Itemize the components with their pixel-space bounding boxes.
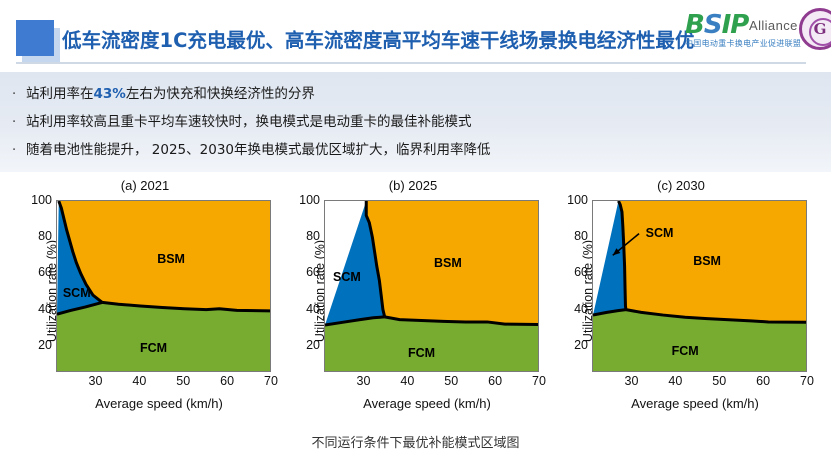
bullet-item-1: · 站利用率在43%左右为快充和快换经济性的分界 [12,82,831,110]
seal-letter: G [802,11,831,47]
y-tick-label: 100 [567,193,588,207]
x-axis-ticks: 3040506070 [592,374,807,392]
seal-logo-icon: G [799,8,831,50]
logo-alliance-text: Alliance [749,18,798,33]
y-tick-label: 80 [306,229,320,243]
y-tick-label: 20 [38,338,52,352]
charts-container: (a) 2021Utilization rate (%)Average spee… [0,178,831,428]
chart-title: (a) 2021 [10,178,280,193]
x-tick-label: 40 [132,374,146,388]
bullet-item-3: · 随着电池性能提升， 2025、2030年换电模式最优区域扩大，临界利用率降低 [12,138,831,166]
bsip-alliance-logo: BSIP Alliance 中国电动重卡换电产业促进联盟 G [683,2,831,58]
logo-chinese-text: 中国电动重卡换电产业促进联盟 [685,38,801,49]
y-tick-label: 100 [31,193,52,207]
plot-area: BSMFCMSCM [592,200,807,372]
x-tick-label: 30 [357,374,371,388]
chart-panel-2: (b) 2025Utilization rate (%)Average spee… [278,178,548,418]
y-tick-label: 80 [38,229,52,243]
x-tick-label: 40 [668,374,682,388]
bullet-item-2: · 站利用率较高且重卡平均车速较快时，换电模式是电动重卡的最佳补能模式 [12,110,831,138]
x-tick-label: 70 [264,374,278,388]
bullet-3-text: 随着电池性能提升， 2025、2030年换电模式最优区域扩大，临界利用率降低 [26,138,491,158]
title-accent-square [16,20,54,56]
slide-header: 低车流密度1C充电最优、高车流密度高平均车速干线场景换电经济性最优 BSIP A… [0,0,831,68]
y-tick-label: 80 [574,229,588,243]
y-tick-label: 20 [574,338,588,352]
chart-title: (b) 2025 [278,178,548,193]
bullet-panel: · 站利用率在43%左右为快充和快换经济性的分界 · 站利用率较高且重卡平均车速… [0,72,831,172]
region-fcm [57,302,271,372]
bullet-marker-icon: · [12,115,26,130]
bullet-2-text: 站利用率较高且重卡平均车速较快时，换电模式是电动重卡的最佳补能模式 [26,110,472,130]
figure-caption: 不同运行条件下最优补能模式区域图 [0,432,831,451]
y-tick-label: 60 [306,265,320,279]
y-tick-label: 40 [574,302,588,316]
chart-panel-1: (a) 2021Utilization rate (%)Average spee… [10,178,280,418]
x-axis-ticks: 3040506070 [324,374,539,392]
y-tick-label: 40 [306,302,320,316]
bullet-1-highlight: 43% [94,86,126,102]
x-tick-label: 60 [756,374,770,388]
x-tick-label: 60 [220,374,234,388]
y-tick-label: 100 [299,193,320,207]
title-underline [16,62,806,64]
x-tick-label: 50 [712,374,726,388]
plot-area: SCMBSMFCM [56,200,271,372]
x-tick-label: 40 [400,374,414,388]
chart-panel-3: (c) 2030Utilization rate (%)Average spee… [546,178,816,418]
x-axis-label: Average speed (km/h) [312,396,542,411]
bullet-marker-icon: · [12,87,26,102]
x-tick-label: 30 [625,374,639,388]
x-axis-ticks: 3040506070 [56,374,271,392]
x-axis-label: Average speed (km/h) [44,396,274,411]
x-tick-label: 30 [89,374,103,388]
logo-brand-text: BSIP [685,10,748,40]
x-tick-label: 50 [176,374,190,388]
x-tick-label: 70 [532,374,546,388]
chart-title: (c) 2030 [546,178,816,193]
bullet-marker-icon: · [12,143,26,158]
page-title: 低车流密度1C充电最优、高车流密度高平均车速干线场景换电经济性最优 [62,24,694,53]
y-tick-label: 20 [306,338,320,352]
y-tick-label: 60 [574,265,588,279]
scm-annotation-arrow [593,201,807,372]
bullet-1-prefix: 站利用率在 [26,86,94,102]
x-tick-label: 60 [488,374,502,388]
x-tick-label: 70 [800,374,814,388]
bullet-1-suffix: 左右为快充和快换经济性的分界 [126,86,315,102]
plot-area: SCMBSMFCM [324,200,539,372]
y-tick-label: 60 [38,265,52,279]
y-tick-label: 40 [38,302,52,316]
region-bsm [366,201,539,324]
x-tick-label: 50 [444,374,458,388]
x-axis-label: Average speed (km/h) [580,396,810,411]
